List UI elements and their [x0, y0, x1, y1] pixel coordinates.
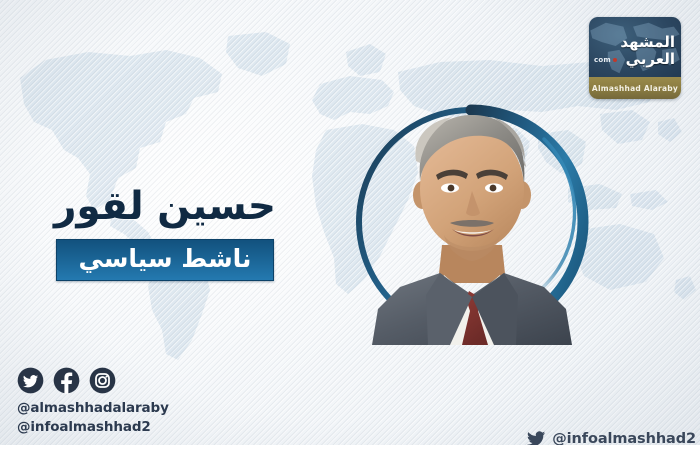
instagram-icon[interactable] — [89, 367, 116, 394]
logo-com-label: com — [594, 56, 611, 64]
social-icon-row — [17, 367, 169, 394]
twitter-icon[interactable] — [17, 367, 44, 394]
logo-arabic-line-1: المشهد — [620, 35, 675, 50]
portrait-photo — [366, 95, 578, 345]
status-badge: ناشط سياسي — [56, 239, 275, 281]
portrait-container — [352, 103, 590, 341]
handle-primary[interactable]: @almashhadalaraby — [17, 399, 169, 418]
logo-latin-name: Almashhad Alaraby — [592, 84, 678, 93]
logo-main-panel: المشهد العربي com — [589, 17, 681, 77]
facebook-icon[interactable] — [53, 367, 80, 394]
identity-block: حسين لقور ناشط سياسي — [0, 186, 330, 281]
handle-secondary[interactable]: @infoalmashhad2 — [17, 418, 169, 437]
social-block: @almashhadalaraby @infoalmashhad2 — [17, 367, 169, 437]
logo-dot-icon — [613, 58, 617, 62]
logo-arabic-line-2: العربي — [626, 52, 675, 67]
bottom-strip — [0, 445, 700, 459]
logo-name-strip: Almashhad Alaraby — [589, 77, 681, 99]
channel-logo[interactable]: المشهد العربي com Almashhad Alaraby — [589, 17, 681, 99]
promo-card: حسين لقور ناشط سياسي المشهد العربي com — [0, 0, 700, 459]
page-title: حسين لقور — [0, 186, 330, 228]
